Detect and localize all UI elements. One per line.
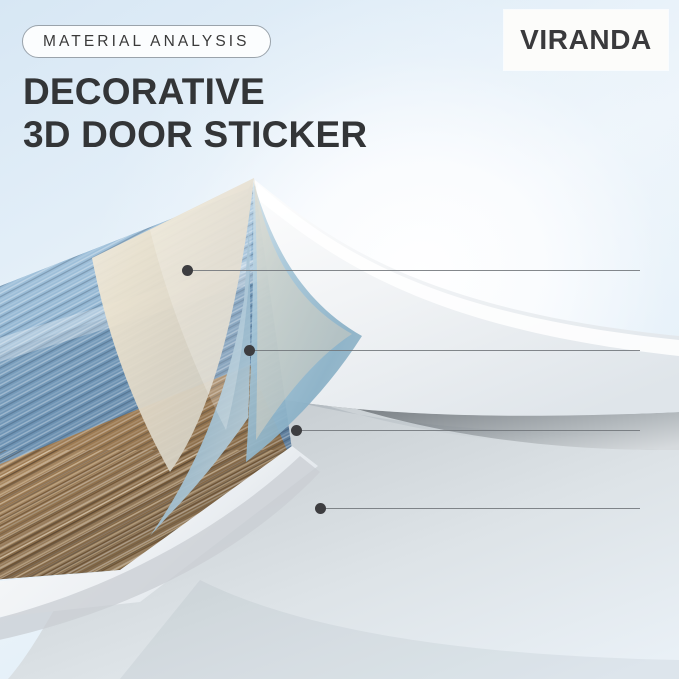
page-title-line-1: DECORATIVE	[23, 71, 265, 112]
eyebrow-badge: MATERIAL ANALYSIS	[22, 25, 271, 58]
eyebrow-badge-label: MATERIAL ANALYSIS	[43, 33, 250, 51]
callout-dot-4	[315, 503, 326, 514]
leader-line-2	[249, 350, 640, 351]
leader-line-1	[187, 270, 640, 271]
brand-logo-text: VIRANDA	[520, 24, 652, 56]
callout-dot-1	[182, 265, 193, 276]
leader-line-3	[296, 430, 640, 431]
brand-logo: VIRANDA	[504, 10, 668, 70]
leader-line-4	[320, 508, 640, 509]
callout-dot-2	[244, 345, 255, 356]
page-title: DECORATIVE 3D DOOR STICKER	[23, 70, 367, 157]
material-analysis-infographic: MATERIAL ANALYSIS DECORATIVE 3D DOOR STI…	[0, 0, 679, 679]
sticker-layer-illustration	[0, 150, 679, 679]
callout-dot-3	[291, 425, 302, 436]
